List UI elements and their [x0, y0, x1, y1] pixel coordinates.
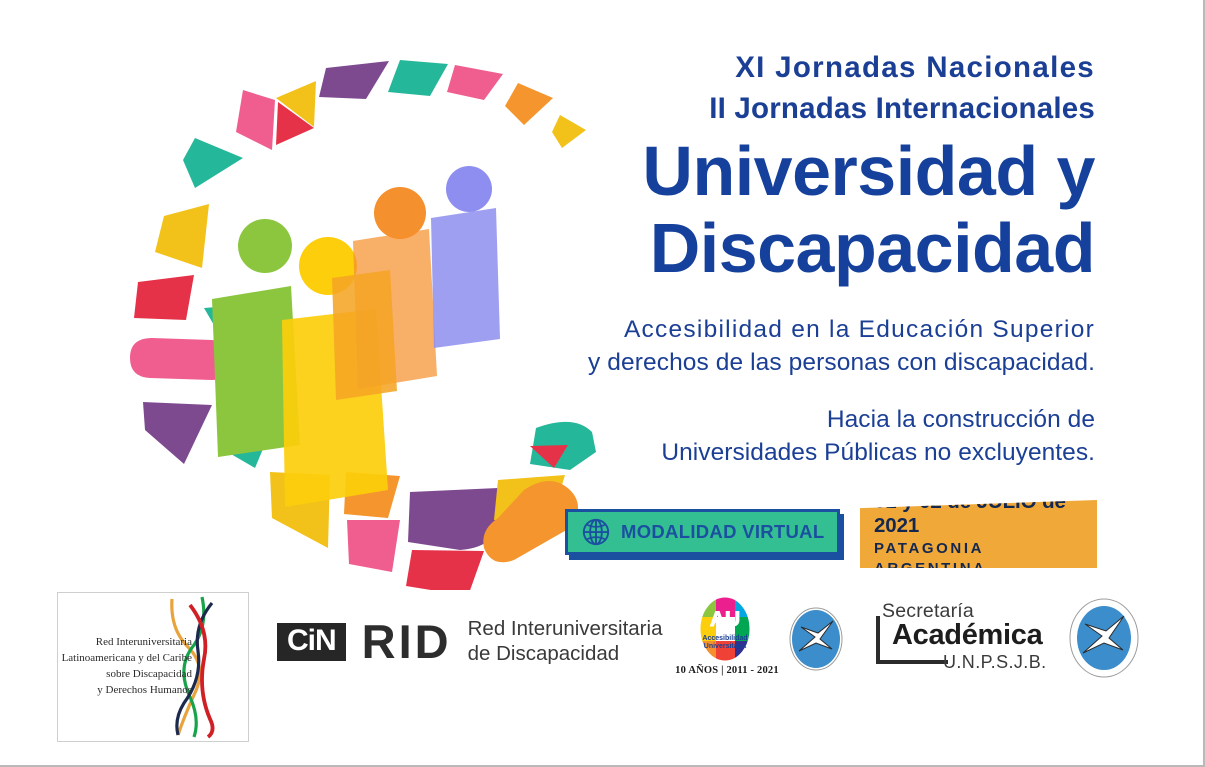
- title-line-1: Universidad y: [470, 137, 1095, 206]
- rid-mark: RID: [362, 618, 452, 665]
- modalidad-virtual-badge: MODALIDAD VIRTUAL: [565, 509, 840, 555]
- svg-text:AU: AU: [710, 608, 740, 631]
- svg-text:Accesibilidad: Accesibilidad: [702, 635, 747, 642]
- rilcdh-line-3: sobre Discapacidad: [44, 667, 192, 683]
- logo-secretaria-academica: Secretaría Académica U.N.P.S.J.B.: [788, 600, 1054, 678]
- globe-icon: [581, 517, 611, 547]
- subtitle-line-1: Accesibilidad en la Educación Superior: [470, 313, 1095, 346]
- logo-rilcdh: Red Interuniversitaria Latinoamericana y…: [57, 592, 249, 742]
- au-anniversary-caption: 10 AÑOS | 2011 - 2021: [668, 665, 786, 676]
- rilcdh-line-1: Red Interuniversitaria: [44, 635, 192, 651]
- secretaria-line-3: U.N.P.S.J.B.: [943, 652, 1047, 673]
- logo-accesibilidad-universitaria: AU Accesibilidad Universitaria: [697, 594, 753, 664]
- logo-cin-rid: CiN RID Red Interuniversitaria de Discap…: [277, 617, 662, 666]
- cin-mark: CiN: [277, 623, 346, 661]
- logo-unpsjb: [1068, 597, 1140, 679]
- rid-subtitle: Red Interuniversitaria de Discapacidad: [468, 617, 663, 666]
- rid-subtitle-line-2: de Discapacidad: [468, 642, 663, 667]
- kicker-line-2: II Jornadas Internacionales: [470, 89, 1095, 130]
- rid-subtitle-line-1: Red Interuniversitaria: [468, 617, 663, 642]
- secretaria-line-2: Académica: [892, 619, 1042, 652]
- subtitle2-block: Hacia la construcción de Universidades P…: [470, 403, 1095, 470]
- title-line-2: Discapacidad: [470, 214, 1095, 283]
- kicker-line-1: XI Jornadas Nacionales: [470, 48, 1095, 89]
- poster-canvas: XI Jornadas Nacionales II Jornadas Inter…: [0, 0, 1203, 765]
- event-date: 01 y 02 de JULIO de 2021: [874, 490, 1097, 537]
- banner-row: MODALIDAD VIRTUAL 01 y 02 de JULIO de 20…: [560, 500, 1095, 570]
- rilcdh-text: Red Interuniversitaria Latinoamericana y…: [44, 635, 192, 699]
- date-location-badge: 01 y 02 de JULIO de 2021 PATAGONIA ARGEN…: [860, 500, 1097, 568]
- event-location: PATAGONIA ARGENTINA: [874, 539, 1097, 578]
- unpsjb-albatross-icon: [788, 607, 844, 671]
- subtitle-line-2: y derechos de las personas con discapaci…: [470, 346, 1095, 379]
- sponsor-logos: Red Interuniversitaria Latinoamericana y…: [0, 585, 1205, 767]
- modalidad-virtual-label: MODALIDAD VIRTUAL: [621, 521, 824, 543]
- rilcdh-line-2: Latinoamericana y del Caribe: [44, 651, 192, 667]
- subtitle-block: Accesibilidad en la Educación Superior y…: [470, 313, 1095, 379]
- headline-block: XI Jornadas Nacionales II Jornadas Inter…: [470, 48, 1095, 469]
- subtitle2-line-2: Universidades Públicas no excluyentes.: [470, 436, 1095, 469]
- rilcdh-line-4: y Derechos Humanos: [44, 683, 192, 699]
- subtitle2-line-1: Hacia la construcción de: [470, 403, 1095, 436]
- svg-text:Universitaria: Universitaria: [704, 643, 747, 650]
- secretaria-text: Secretaría Académica U.N.P.S.J.B.: [854, 600, 1054, 678]
